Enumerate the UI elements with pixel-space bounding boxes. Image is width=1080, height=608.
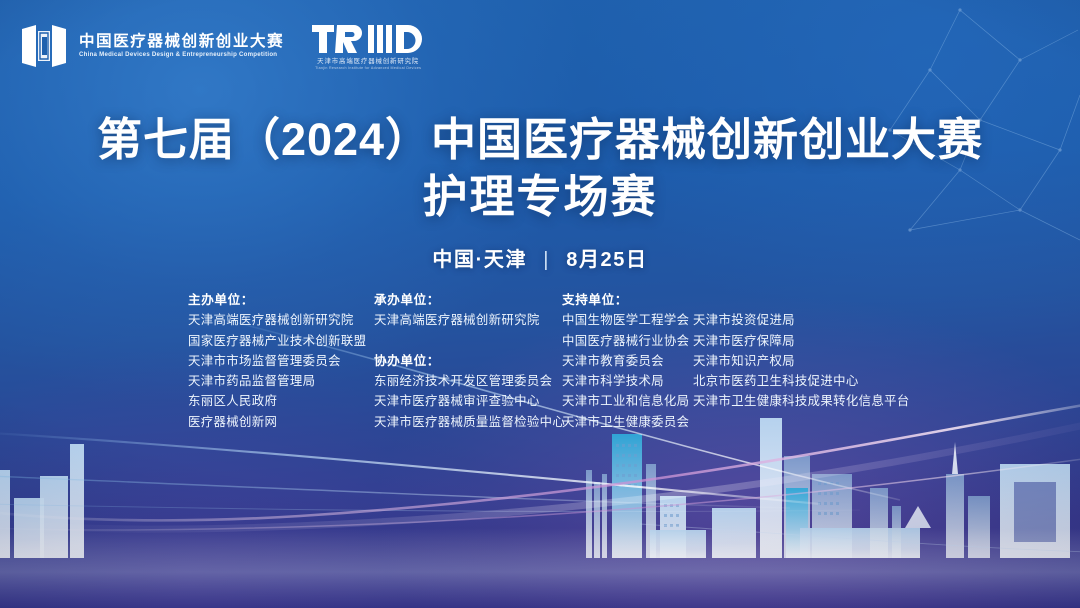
poster-banner: 中国医疗器械创新创业大赛 China Medical Devices Desig… xyxy=(0,0,1080,608)
list-item: 天津市药品监督管理局 xyxy=(188,371,374,391)
page-title-line2: 护理专场赛 xyxy=(0,169,1080,226)
list-item: 天津市工业和信息化局 xyxy=(562,391,693,411)
list-item: 中国生物医学工程学会 xyxy=(562,310,693,330)
competition-logo-name-cn: 中国医疗器械创新创业大赛 xyxy=(79,34,284,50)
list-item: 国家医疗器械产业技术创新联盟 xyxy=(188,331,374,351)
list-item: 天津市教育委员会 xyxy=(562,351,693,371)
supporters-sublist-left: 支持单位： 中国生物医学工程学会 中国医疗器械行业协会 天津市教育委员会 天津市… xyxy=(562,290,693,432)
list-item: 东丽区人民政府 xyxy=(188,391,374,411)
trimd-wordmark-icon xyxy=(310,22,426,56)
supporters-sublist-right: 天津市投资促进局 天津市医疗保障局 天津市知识产权局 北京市医药卫生科技促进中心… xyxy=(693,290,903,432)
list-item: 天津高端医疗器械创新研究院 xyxy=(188,310,374,330)
list-item: 天津市医疗器械审评查验中心 xyxy=(374,391,562,411)
list-item: 天津市市场监督管理委员会 xyxy=(188,351,374,371)
organizers-column-2: 承办单位： 天津高端医疗器械创新研究院 协办单位： 东丽经济技术开发区管理委员会… xyxy=(374,290,562,432)
title-block: 第七届（2024）中国医疗器械创新创业大赛 护理专场赛 中国·天津 | 8月25… xyxy=(0,112,1080,272)
organizers-column-1: 主办单位： 天津高端医疗器械创新研究院 国家医疗器械产业技术创新联盟 天津市市场… xyxy=(188,290,374,432)
group-heading-supporters: 支持单位： xyxy=(562,290,693,310)
group-spacer xyxy=(374,331,562,351)
group-heading-coorganizer: 协办单位： xyxy=(374,351,562,371)
open-door-mark-icon xyxy=(18,23,70,69)
list-item: 天津市知识产权局 xyxy=(693,351,903,371)
event-date: 8月25日 xyxy=(566,249,647,271)
institute-logo-name-en: Tianjin Research Institute for Advanced … xyxy=(315,67,421,71)
list-item: 天津市医疗器械质量监督检验中心 xyxy=(374,412,562,432)
list-item: 中国医疗器械行业协会 xyxy=(562,331,693,351)
organizers-column-3: 支持单位： 中国生物医学工程学会 中国医疗器械行业协会 天津市教育委员会 天津市… xyxy=(562,290,903,432)
list-item: 东丽经济技术开发区管理委员会 xyxy=(374,371,562,391)
competition-logo: 中国医疗器械创新创业大赛 China Medical Devices Desig… xyxy=(18,23,284,69)
group-heading-organizer: 承办单位： xyxy=(374,290,562,310)
list-item: 天津高端医疗器械创新研究院 xyxy=(374,310,562,330)
list-item: 北京市医药卫生科技促进中心 xyxy=(693,371,903,391)
organizers-block: 主办单位： 天津高端医疗器械创新研究院 国家医疗器械产业技术创新联盟 天津市市场… xyxy=(188,290,948,432)
institute-logo: 天津市高端医疗器械创新研究院 Tianjin Research Institut… xyxy=(310,22,426,71)
list-item: 天津市卫生健康委员会 xyxy=(562,412,693,432)
list-item: 天津市卫生健康科技成果转化信息平台 xyxy=(693,391,903,411)
event-location: 中国·天津 xyxy=(432,249,527,271)
list-item: 天津市投资促进局 xyxy=(693,310,903,330)
competition-logo-name-en: China Medical Devices Design & Entrepren… xyxy=(79,52,284,58)
column-spacer xyxy=(693,290,903,310)
subtitle-separator: | xyxy=(543,249,550,272)
institute-logo-name-cn: 天津市高端医疗器械创新研究院 xyxy=(317,58,419,65)
group-heading-host: 主办单位： xyxy=(188,290,374,310)
list-item: 医疗器械创新网 xyxy=(188,412,374,432)
event-subtitle: 中国·天津 | 8月25日 xyxy=(0,243,1080,272)
list-item: 天津市医疗保障局 xyxy=(693,331,903,351)
list-item: 天津市科学技术局 xyxy=(562,371,693,391)
page-title-line1: 第七届（2024）中国医疗器械创新创业大赛 xyxy=(0,112,1080,169)
header-logos: 中国医疗器械创新创业大赛 China Medical Devices Desig… xyxy=(0,0,1080,92)
